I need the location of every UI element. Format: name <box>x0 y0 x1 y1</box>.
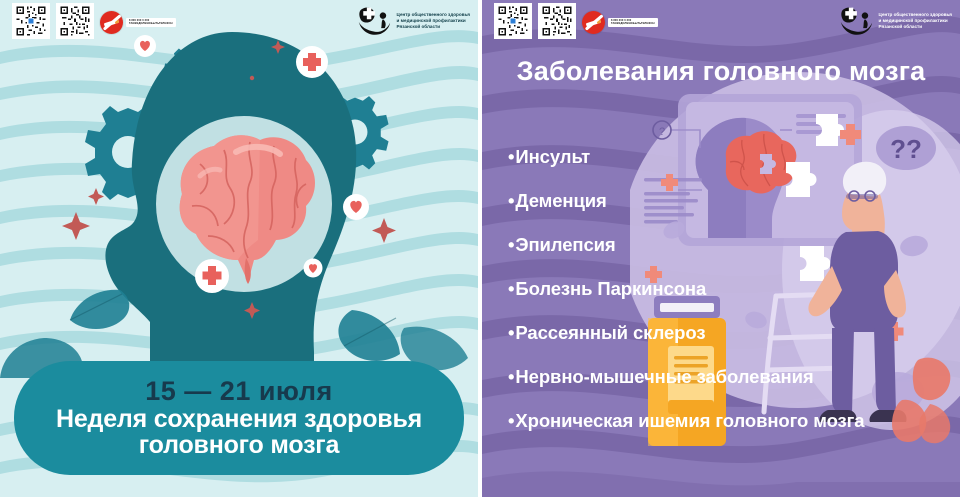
medical-cross-icon <box>195 259 229 293</box>
no-smoking-icon <box>582 11 605 34</box>
list-item-label: Деменция <box>515 190 606 211</box>
org-line-3: Рязанской области <box>397 24 470 30</box>
list-item: •Болезнь Паркинсона <box>508 280 864 299</box>
poster-pair: 8 800 200 0 200 ТАКЖЕДОЛЖНОБЫТЬТЕЛЕФОН Ц… <box>0 0 960 497</box>
list-item-label: Инсульт <box>515 146 590 167</box>
phone-line-2: ТАКЖЕДОЛЖНОБЫТЬТЕЛЕФОН <box>611 23 655 26</box>
qr-code-vk[interactable] <box>494 3 532 39</box>
list-item: •Деменция <box>508 192 864 211</box>
list-item: •Эпилепсия <box>508 236 864 255</box>
bullet-icon: • <box>508 278 514 299</box>
org-logo-block: Центр общественного здоровья и медицинск… <box>838 4 952 38</box>
list-item: •Нервно-мышечные заболевания <box>508 368 864 387</box>
bullet-icon: • <box>508 322 514 343</box>
bullet-icon: • <box>508 366 514 387</box>
right-header-bar: 8 800 200 0 200 ТАКЖЕДОЛЖНОБЫТЬТЕЛЕФОН Ц… <box>482 0 960 46</box>
list-item-label: Болезнь Паркинсона <box>515 278 706 299</box>
heart-icon <box>343 194 369 220</box>
phone-line-2: ТАКЖЕДОЛЖНОБЫТЬТЕЛЕФОН <box>129 23 173 26</box>
question-mark-icon: ?? <box>876 126 936 170</box>
health-center-logo-icon <box>356 4 392 38</box>
list-item-label: Нервно-мышечные заболевания <box>515 366 813 387</box>
heart-icon <box>304 259 323 278</box>
bullet-icon: • <box>508 410 514 431</box>
poster-right: ? ?? <box>482 0 960 497</box>
org-logo-block: Центр общественного здоровья и медицинск… <box>356 4 470 38</box>
org-line-3: Рязанской области <box>879 24 952 30</box>
medical-cross-icon <box>296 46 328 78</box>
list-item-label: Эпилепсия <box>515 234 615 255</box>
no-smoking-phone-label: 8 800 200 0 200 ТАКЖЕДОЛЖНОБЫТЬТЕЛЕФОН <box>126 18 176 27</box>
campaign-title-line-1: Неделя сохранения здоровья <box>56 406 422 433</box>
right-poster-title: Заболевания головного мозга <box>482 56 960 87</box>
no-smoking-badge: 8 800 200 0 200 ТАКЖЕДОЛЖНОБЫТЬТЕЛЕФОН <box>582 11 658 34</box>
health-center-logo-icon <box>838 4 874 38</box>
svg-text:??: ?? <box>890 134 922 164</box>
no-smoking-badge: 8 800 200 0 200 ТАКЖЕДОЛЖНОБЫТЬТЕЛЕФОН <box>100 11 176 34</box>
list-item: •Инсульт <box>508 148 864 167</box>
poster-left: 8 800 200 0 200 ТАКЖЕДОЛЖНОБЫТЬТЕЛЕФОН Ц… <box>0 0 478 497</box>
list-item-label: Хроническая ишемия головного мозга <box>515 410 864 431</box>
left-brain-illustration <box>0 22 478 382</box>
campaign-dates: 15 — 21 июля <box>145 378 332 405</box>
list-item: •Хроническая ишемия головного мозга <box>508 412 864 431</box>
no-smoking-phone-label: 8 800 200 0 200 ТАКЖЕДОЛЖНОБЫТЬТЕЛЕФОН <box>608 18 658 27</box>
bullet-icon: • <box>508 234 514 255</box>
list-item: •Рассеянный склероз <box>508 324 864 343</box>
disease-list: •Инсульт •Деменция •Эпилепсия •Болезнь П… <box>508 148 864 456</box>
no-smoking-icon <box>100 11 123 34</box>
bullet-icon: • <box>508 190 514 211</box>
qr-code-vk[interactable] <box>12 3 50 39</box>
bullet-icon: • <box>508 146 514 167</box>
qr-code-site[interactable] <box>538 3 576 39</box>
svg-text:?: ? <box>659 126 665 138</box>
list-item-label: Рассеянный склероз <box>515 322 705 343</box>
qr-code-site[interactable] <box>56 3 94 39</box>
campaign-title-line-2: головного мозга <box>139 432 339 459</box>
left-title-banner: 15 — 21 июля Неделя сохранения здоровья … <box>14 361 464 475</box>
left-header-bar: 8 800 200 0 200 ТАКЖЕДОЛЖНОБЫТЬТЕЛЕФОН Ц… <box>0 0 478 46</box>
